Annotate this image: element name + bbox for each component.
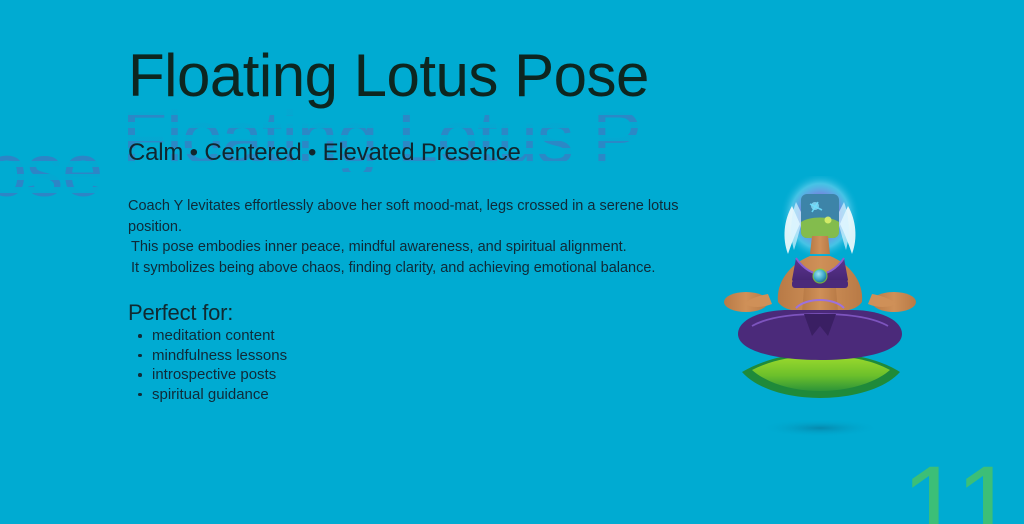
lotus-mat [742, 354, 900, 398]
list-item: introspective posts [134, 365, 287, 385]
list-item: meditation content [134, 326, 287, 346]
description-line-1: Coach Y levitates effortlessly above her… [128, 196, 688, 237]
description-block: Coach Y levitates effortlessly above her… [128, 196, 688, 278]
yoga-figure-illustration [718, 176, 922, 448]
description-line-3: It symbolizes being above chaos, finding… [128, 258, 688, 279]
ground-shadow [760, 419, 880, 437]
page-title: Floating Lotus Pose [128, 44, 649, 107]
perfect-for-list: meditation content mindfulness lessons i… [134, 326, 287, 404]
page-subtitle: Calm • Centered • Elevated Presence [128, 139, 521, 167]
description-line-2: This pose embodies inner peace, mindful … [128, 237, 688, 258]
slide-canvas: ose Floating Lotus P Floating Lotus Pose… [0, 0, 1024, 524]
page-number: 11 [902, 450, 1018, 524]
list-item: spiritual guidance [134, 385, 287, 405]
perfect-for-heading: Perfect for: [128, 300, 233, 326]
neck [810, 236, 830, 254]
list-item: mindfulness lessons [134, 346, 287, 366]
watermark-side-text: ose [0, 128, 102, 213]
head [801, 194, 839, 238]
